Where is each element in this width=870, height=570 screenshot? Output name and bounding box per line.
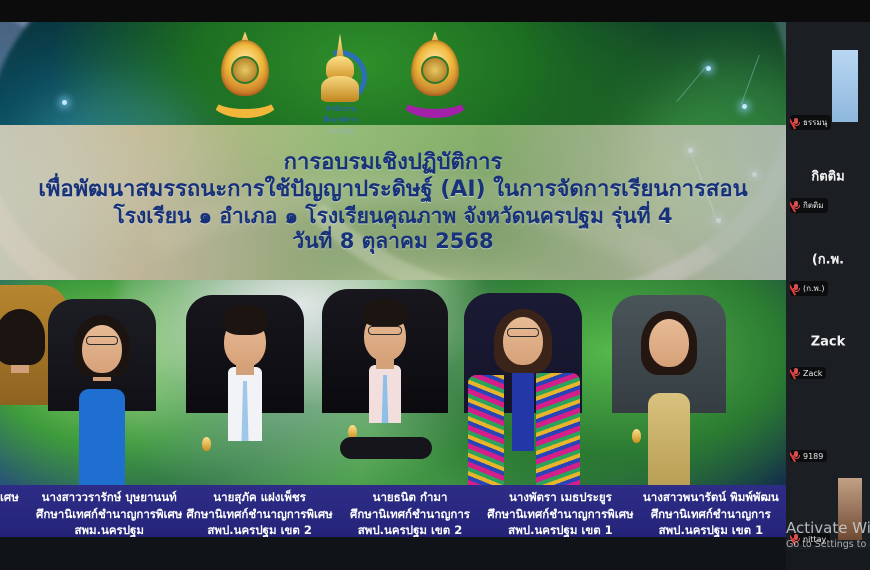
participant-name: Zack	[803, 369, 822, 378]
participant-label: 9189	[790, 450, 827, 462]
zoom-meeting-window: สำนักงานศึกษาธิการ นครปฐม การอบรมเชิงปฏิ…	[0, 0, 870, 570]
presenter-role: ศึกษานิเทศก์ชำนาญการพิเศษ	[34, 506, 184, 523]
slide-title-line-4: วันที่ 8 ตุลาคม 2568	[292, 229, 493, 255]
presenter-photo	[462, 293, 584, 485]
presenter-name-block: นายสุภัค แฝงเพ็ชร ศึกษานิเทศก์ชำนาญการพิ…	[184, 485, 334, 537]
participant-initials: กิตติม	[786, 165, 870, 186]
sash	[512, 373, 534, 451]
participant-label: กิตติม	[790, 198, 828, 213]
participant-tile[interactable]: 9189	[786, 383, 870, 466]
participant-label: (ก.พ.)	[790, 281, 828, 296]
slide-title-band: การอบรมเชิงปฏิบัติการ เพื่อพัฒนาสมรรถนะก…	[0, 125, 786, 280]
presenter-photo	[48, 299, 156, 485]
lapel-pin-icon	[632, 429, 641, 443]
participant-tile[interactable]: กิตติม กิตติม	[786, 134, 870, 217]
presenter-role: ศึกษานิเทศก์ชำนาญการ	[636, 506, 786, 523]
presenter-office: สพป.นครปฐม เขต 2	[184, 522, 334, 537]
windows-activation-watermark: Activate Windows Go to Settings to activ…	[786, 519, 870, 550]
participant-initials: Zack	[786, 334, 870, 349]
participant-name: ธรรมนุ	[803, 116, 827, 129]
presenter-office: สพป.นครปฐม เขต 2	[335, 522, 485, 537]
presenter-name-block: เศษ	[0, 485, 34, 506]
slide-title-line-2: เพื่อพัฒนาสมรรถนะการใช้ปัญญาประดิษฐ์ (AI…	[38, 177, 747, 204]
presenter-role: ศึกษานิเทศก์ชำนาญการ	[335, 506, 485, 523]
lapel-pin-icon	[202, 437, 211, 451]
presenter-photo	[610, 295, 728, 485]
presenter-name-block: นางสาวพนารัตน์ พิมพ์พัฒน ศึกษานิเทศก์ชำน…	[636, 485, 786, 537]
participant-name: กิตติม	[803, 199, 824, 212]
presenter-role: ศึกษานิเทศก์ชำนาญการพิเศษ	[184, 506, 334, 523]
presenter-office: สพป.นครปฐม เขต 1	[636, 522, 786, 537]
mic-muted-icon	[792, 201, 800, 211]
mic-muted-icon	[792, 451, 800, 461]
presenter-name-block: นายธนิต กำมา ศึกษานิเทศก์ชำนาญการ สพป.นค…	[335, 485, 485, 537]
participant-tile[interactable]: (ก.พ. (ก.พ.)	[786, 217, 870, 300]
presenter-name: นางสาววรารักษ์ บุษยานนท์	[34, 489, 184, 506]
presenter-role: ศึกษานิเทศก์ชำนาญการพิเศษ	[485, 506, 635, 523]
presenter-photo	[322, 289, 448, 485]
presenter-name: นายสุภัค แฝงเพ็ชร	[184, 489, 334, 506]
ministry-of-education-emblem-purple-icon	[399, 34, 471, 126]
slide-title-line-1: การอบรมเชิงปฏิบัติการ	[284, 150, 503, 177]
presenter-name-block: นางสาววรารักษ์ บุษยานนท์ ศึกษานิเทศก์ชำน…	[34, 485, 184, 537]
network-node-dot	[706, 66, 711, 71]
window-top-bar	[0, 0, 870, 22]
presenter-name: นางพัตรา เมธประยูร	[485, 489, 635, 506]
ministry-of-education-emblem-gold-icon	[209, 34, 281, 126]
presenter-photo-strip	[0, 280, 786, 485]
network-node-dot	[62, 100, 67, 105]
presenter-office: สพม.นครปฐม	[34, 522, 184, 537]
network-node-dot	[742, 104, 747, 109]
participant-tile[interactable]: Zack Zack	[786, 300, 870, 383]
shawl-right	[536, 373, 580, 485]
participant-label: Zack	[790, 367, 826, 379]
video-frame-content	[832, 50, 858, 122]
nakhon-pathom-pagoda-logo-icon: สำนักงานศึกษาธิการ นครปฐม	[309, 34, 371, 126]
mic-muted-icon	[792, 118, 800, 128]
crossed-arms	[340, 437, 432, 459]
slide-title-line-3: โรงเรียน ๑ อำเภอ ๑ โรงเรียนคุณภาพ จังหวั…	[113, 204, 672, 230]
presenter-name: นายธนิต กำมา	[335, 489, 485, 506]
glasses-icon	[507, 328, 539, 337]
presenter-name-block: นางพัตรา เมธประยูร ศึกษานิเทศก์ชำนาญการพ…	[485, 485, 635, 537]
presenter-names-band: เศษ นางสาววรารักษ์ บุษยานนท์ ศึกษานิเทศก…	[0, 485, 786, 537]
watermark-subtitle: Go to Settings to activate Windows.	[786, 539, 870, 550]
participant-tile[interactable]: ธรรมนุ	[786, 22, 870, 134]
mic-muted-icon	[792, 284, 800, 294]
participant-thumbnail-strip[interactable]: ธรรมนุ กิตติม กิตติม (ก.พ. (ก.พ.)	[786, 22, 870, 570]
glasses-icon	[368, 326, 402, 335]
participant-name: 9189	[803, 452, 823, 461]
presenter-photo	[186, 295, 304, 485]
participant-initials: (ก.พ.	[786, 248, 870, 269]
participant-name: (ก.พ.)	[803, 282, 824, 295]
emblem-row: สำนักงานศึกษาธิการ นครปฐม	[190, 27, 490, 132]
mic-muted-icon	[792, 368, 800, 378]
shared-screen-content[interactable]: สำนักงานศึกษาธิการ นครปฐม การอบรมเชิงปฏิ…	[0, 22, 786, 537]
presenter-role: เศษ	[0, 489, 34, 506]
presenter-name: นางสาวพนารัตน์ พิมพ์พัฒน	[636, 489, 786, 506]
shawl-left	[468, 375, 504, 485]
participant-label: ธรรมนุ	[790, 115, 831, 130]
presenter-office: สพป.นครปฐม เขต 1	[485, 522, 635, 537]
glasses-icon	[86, 336, 118, 345]
watermark-title: Activate Windows	[786, 519, 870, 537]
